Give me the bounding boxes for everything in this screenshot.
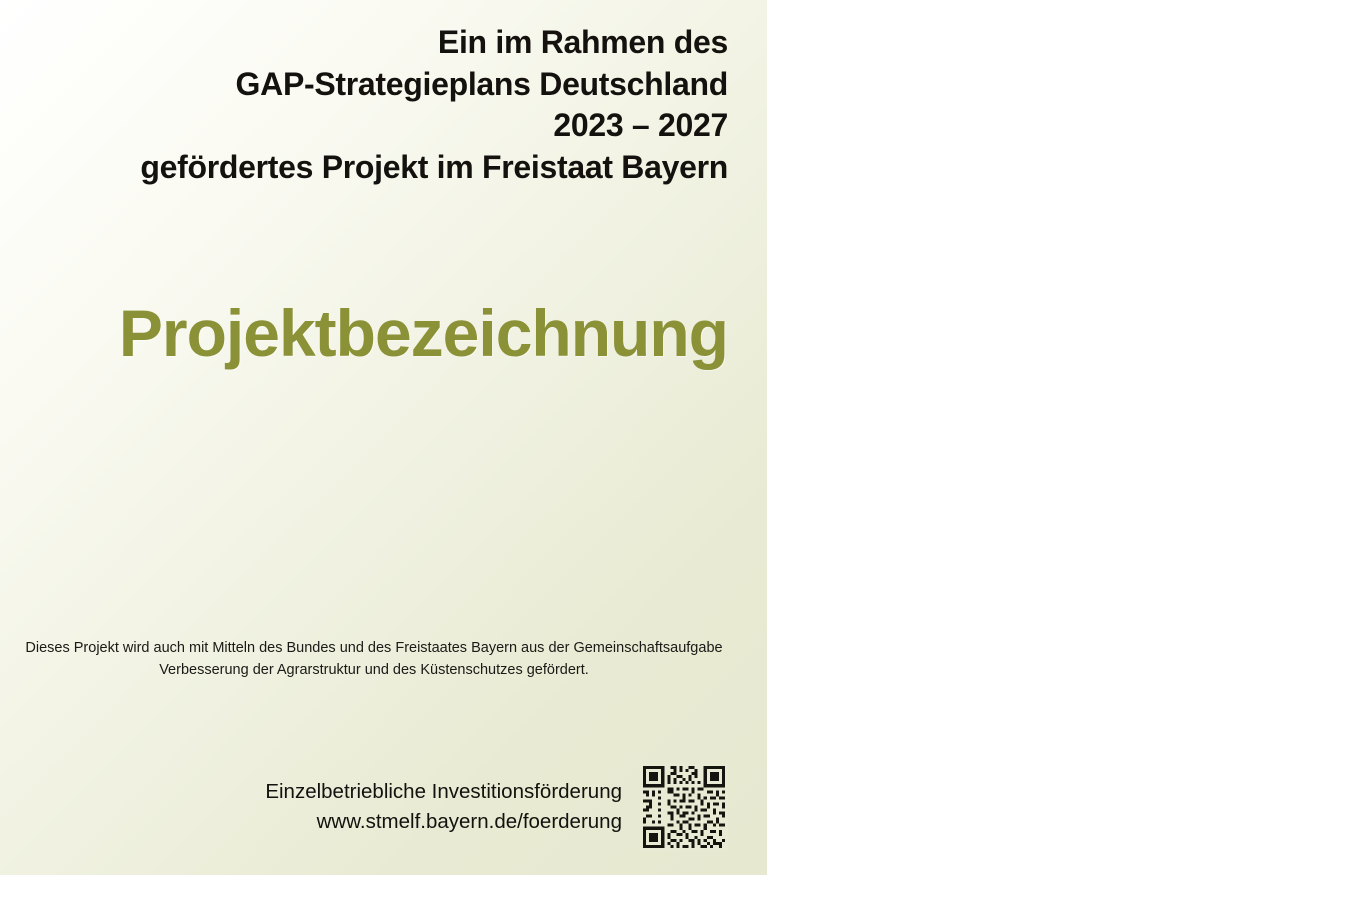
left-panel: Ein im Rahmen des GAP-Strategieplans Deu… — [0, 0, 767, 875]
heading-line-2: GAP-Strategieplans Deutschland — [28, 64, 728, 106]
right-panel: Gefördert durch Bayerisches Staatsminist… — [767, 0, 1352, 875]
programme-label: Einzelbetriebliche Investitionsförderung — [265, 777, 622, 807]
qr-code[interactable] — [640, 763, 728, 851]
programme-footer-text: Einzelbetriebliche Investitionsförderung… — [265, 777, 622, 836]
heading-line-3: 2023 – 2027 — [28, 105, 728, 147]
funding-note: Dieses Projekt wird auch mit Mitteln des… — [20, 637, 728, 682]
page-title: Projektbezeichnung — [0, 300, 728, 366]
heading-line-4: gefördertes Projekt im Freistaat Bayern — [28, 147, 728, 189]
programme-footer: Einzelbetriebliche Investitionsförderung… — [0, 763, 728, 851]
heading-line-1: Ein im Rahmen des — [28, 22, 728, 64]
website-link[interactable]: www.stmelf.bayern.de/foerderung — [265, 807, 622, 837]
programme-heading: Ein im Rahmen des GAP-Strategieplans Deu… — [28, 22, 728, 188]
poster: Ein im Rahmen des GAP-Strategieplans Deu… — [0, 0, 1352, 875]
